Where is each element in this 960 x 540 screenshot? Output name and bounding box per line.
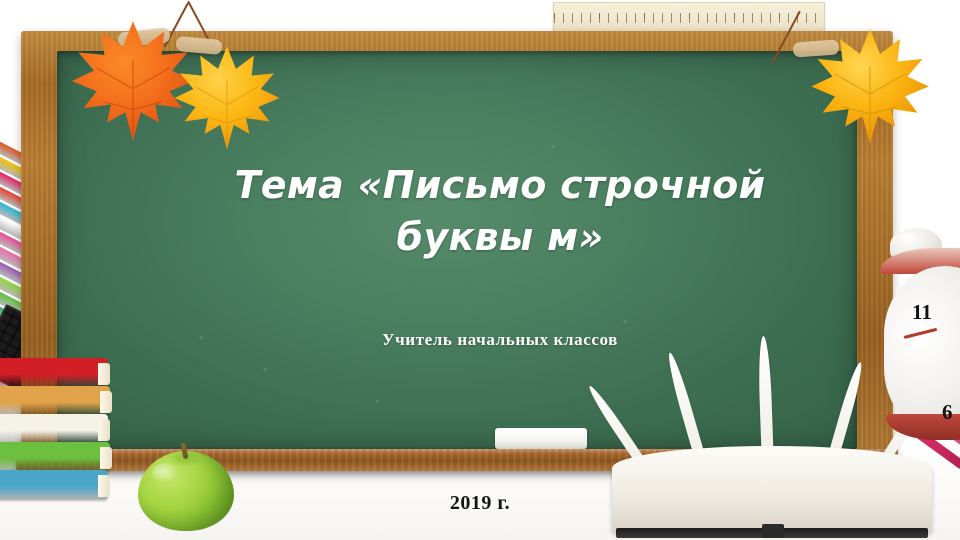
book — [0, 358, 108, 388]
book — [0, 470, 108, 500]
book — [0, 414, 108, 444]
book — [0, 386, 110, 416]
green-apple-icon — [138, 443, 234, 531]
title-line-1: Тема «Письмо строчной — [200, 160, 800, 212]
year-text: 2019 г. — [330, 492, 630, 515]
book-stack — [0, 358, 110, 518]
maple-leaf-yellow-icon — [790, 24, 950, 149]
title-line-2: буквы м» — [200, 212, 800, 264]
maple-leaf-yellow-icon — [128, 42, 326, 154]
clock-number-6: 6 — [942, 400, 953, 425]
alarm-clock-icon: 11 6 — [880, 248, 960, 478]
page-title: Тема «Письмо строчной буквы м» — [200, 160, 800, 263]
book — [0, 442, 110, 472]
presentation-slide: Тема «Письмо строчной буквы м» Учитель н… — [0, 0, 960, 540]
clock-number-11: 11 — [912, 300, 932, 325]
chalk-eraser-icon — [495, 428, 587, 449]
